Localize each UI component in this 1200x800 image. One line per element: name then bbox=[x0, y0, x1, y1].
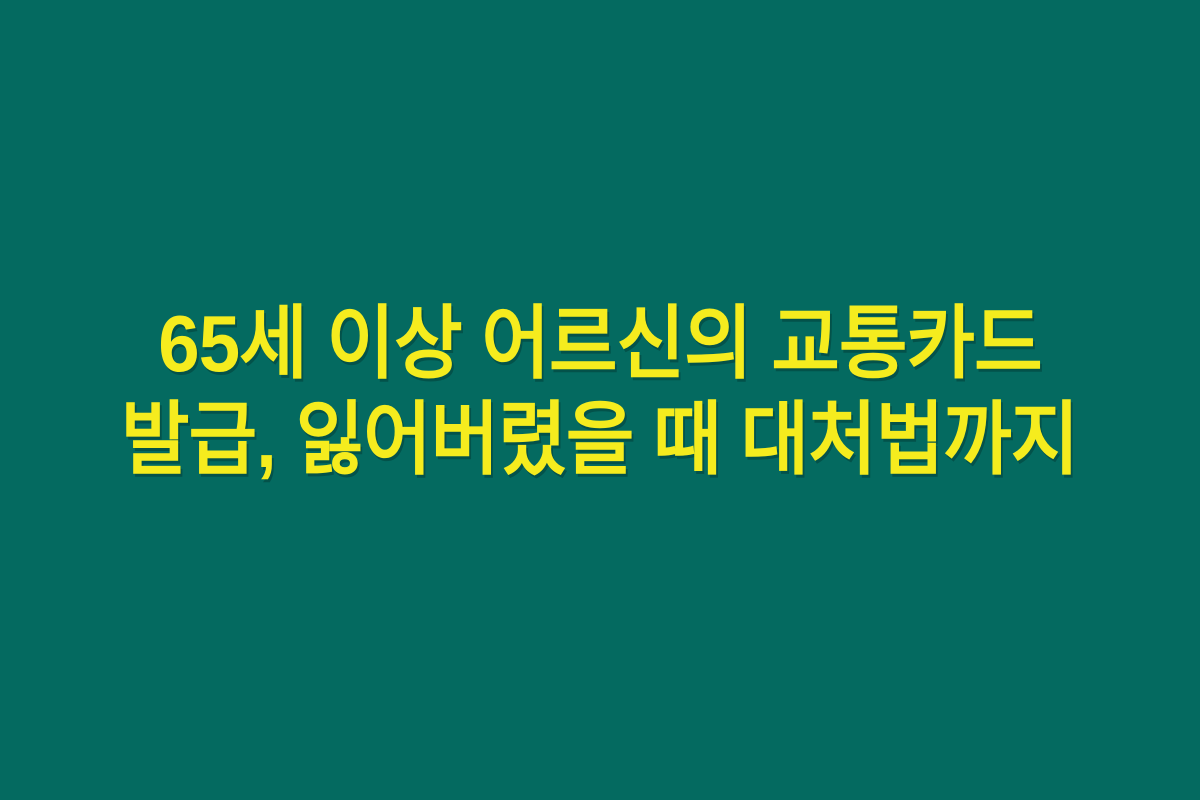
title-line-2-text: 발급, 잃어버렸을 때 대처법까지 bbox=[121, 392, 1078, 488]
title-line-1-text: 65세 이상 어르신의 교통카드 bbox=[158, 296, 1041, 392]
title-line-2: 발급, 잃어버렸을 때 대처법까지 bbox=[0, 392, 1200, 488]
title-block: 65세 이상 어르신의 교통카드 발급, 잃어버렸을 때 대처법까지 bbox=[0, 296, 1200, 488]
title-card: 65세 이상 어르신의 교통카드 발급, 잃어버렸을 때 대처법까지 bbox=[0, 0, 1200, 800]
title-line-1: 65세 이상 어르신의 교통카드 bbox=[0, 296, 1200, 392]
